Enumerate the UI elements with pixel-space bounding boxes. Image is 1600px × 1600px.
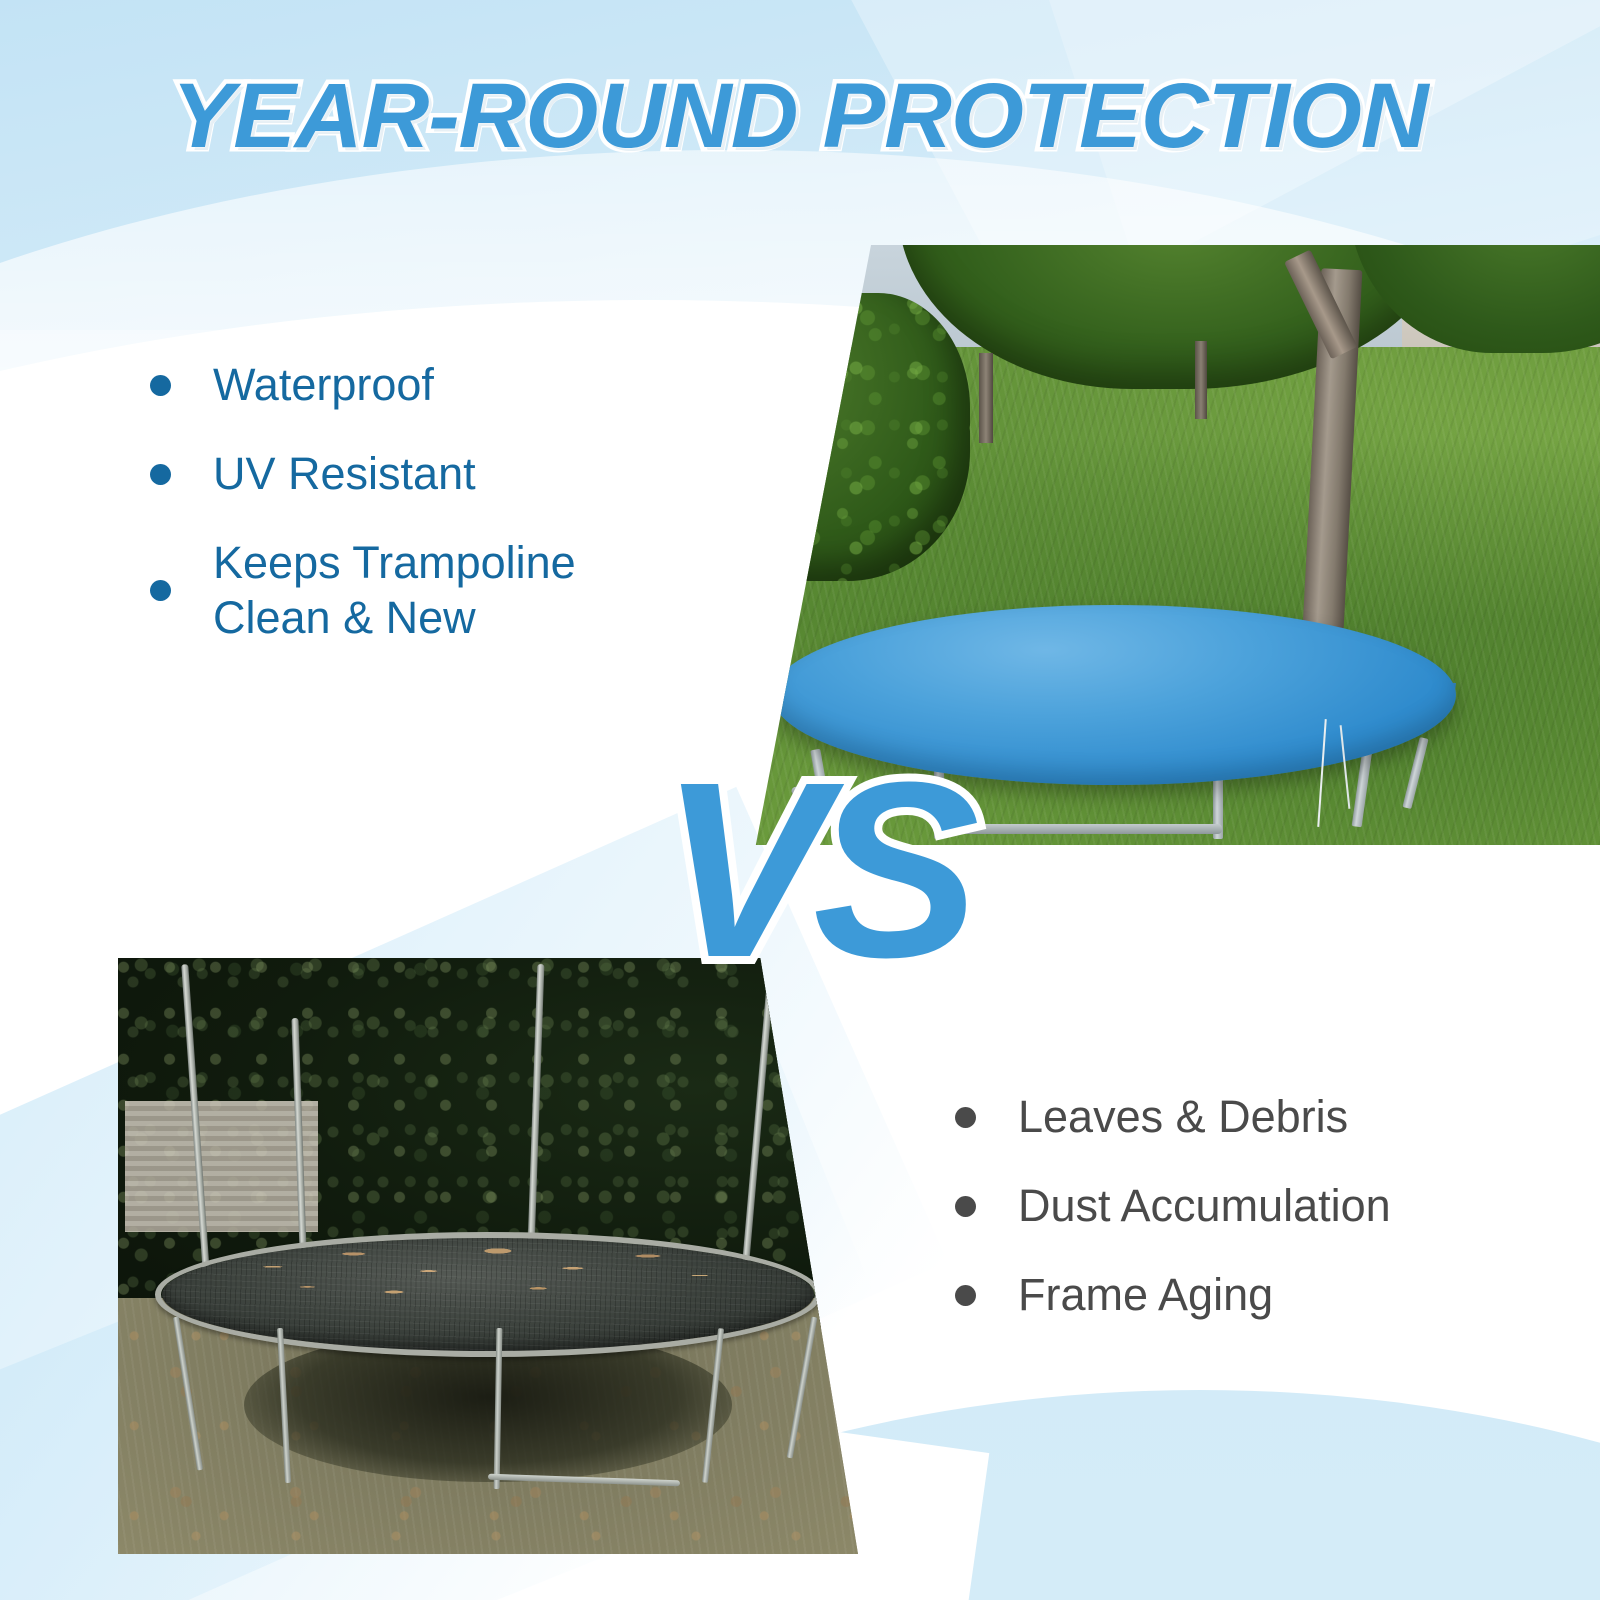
cons-item-label: Dust Accumulation <box>1018 1179 1391 1234</box>
pros-list: Waterproof UV Resistant Keeps Trampoline… <box>150 358 670 656</box>
scene-uncovered <box>118 958 858 1554</box>
list-item: UV Resistant <box>150 447 670 502</box>
tree-trunk-small <box>979 353 993 443</box>
list-item: Keeps Trampoline Clean & New <box>150 536 670 646</box>
pros-item-label: UV Resistant <box>213 447 476 502</box>
bullet-icon <box>150 580 171 601</box>
fence <box>125 1101 317 1232</box>
list-item: Leaves & Debris <box>955 1090 1485 1145</box>
cons-list: Leaves & Debris Dust Accumulation Frame … <box>955 1090 1485 1357</box>
list-item: Dust Accumulation <box>955 1179 1485 1234</box>
bullet-icon <box>955 1285 976 1306</box>
bullet-icon <box>150 375 171 396</box>
list-item: Frame Aging <box>955 1268 1485 1323</box>
photo-uncovered-trampoline <box>118 958 858 1554</box>
infographic-canvas: YEAR-ROUND PROTECTION <box>0 0 1600 1600</box>
pros-item-label: Keeps Trampoline Clean & New <box>213 536 670 646</box>
tree-trunk-small-2 <box>1195 341 1207 419</box>
pros-item-label: Waterproof <box>213 358 434 413</box>
list-item: Waterproof <box>150 358 670 413</box>
cons-item-label: Frame Aging <box>1018 1268 1273 1323</box>
bullet-icon <box>955 1107 976 1128</box>
vs-badge: VS <box>660 745 966 995</box>
fallen-leaves <box>192 1238 769 1310</box>
cons-item-label: Leaves & Debris <box>1018 1090 1348 1145</box>
bullet-icon <box>150 464 171 485</box>
trampoline-foot-bar <box>934 824 1222 834</box>
bullet-icon <box>955 1196 976 1217</box>
